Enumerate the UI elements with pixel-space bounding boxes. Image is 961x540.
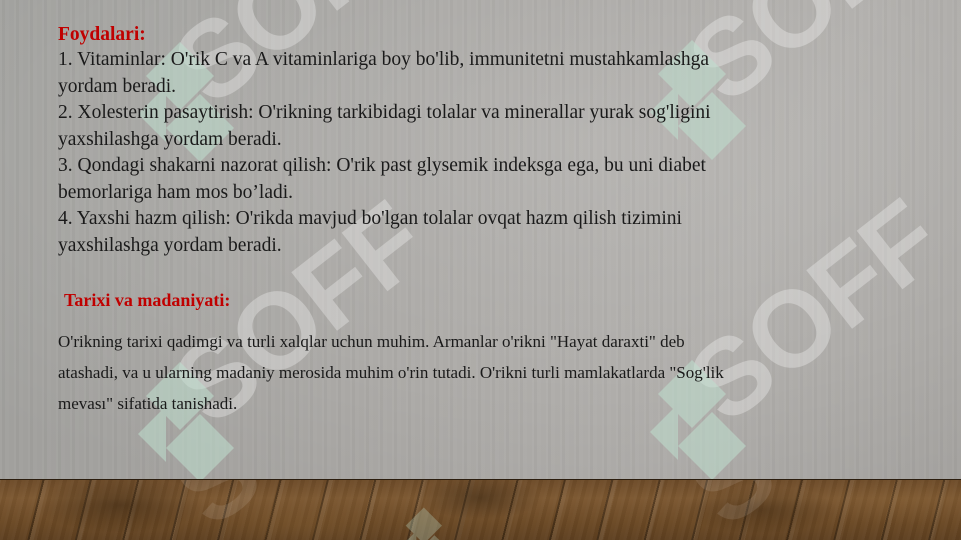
list-item: 3. Qondagi shakarni nazorat qilish: O'ri… — [58, 153, 748, 206]
history-body-text: O'rikning tarixi qadimgi va turli xalqla… — [58, 326, 738, 419]
benefits-heading: Foydalari: — [58, 22, 748, 47]
history-section: Tarixi va madaniyati: O'rikning tarixi q… — [58, 288, 758, 419]
list-item: 1. Vitaminlar: O'rik C va A vitaminlarig… — [58, 47, 748, 100]
history-heading: Tarixi va madaniyati: — [64, 288, 758, 312]
list-item: 4. Yaxshi hazm qilish: O'rikda mavjud bo… — [58, 206, 748, 259]
benefits-list: 1. Vitaminlar: O'rik C va A vitaminlarig… — [58, 47, 748, 259]
presentation-slide: SOFF SOFF SOFF SOFF — [0, 0, 961, 540]
list-item: 2. Xolesterin pasaytirish: O'rikning tar… — [58, 100, 748, 153]
green-chevron-logo-icon — [400, 500, 470, 540]
wooden-floor: SOFF SOFF — [0, 479, 961, 540]
benefits-section: Foydalari: 1. Vitaminlar: O'rik C va A v… — [58, 22, 748, 259]
